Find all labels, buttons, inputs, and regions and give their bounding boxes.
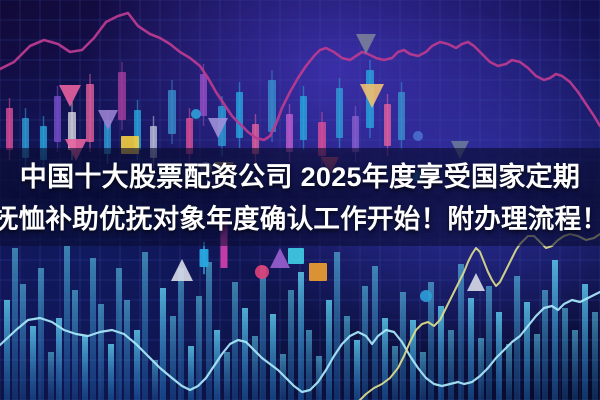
headline-line-1: 中国十大股票配资公司 2025年度享受国家定期 <box>20 157 580 197</box>
headline-line-2: 抚恤补助优抚对象年度确认工作开始！附办理流程！ <box>0 199 600 239</box>
banner-image: 中国十大股票配资公司 2025年度享受国家定期 抚恤补助优抚对象年度确认工作开始… <box>0 0 600 400</box>
headline-block: 中国十大股票配资公司 2025年度享受国家定期 抚恤补助优抚对象年度确认工作开始… <box>0 150 600 246</box>
